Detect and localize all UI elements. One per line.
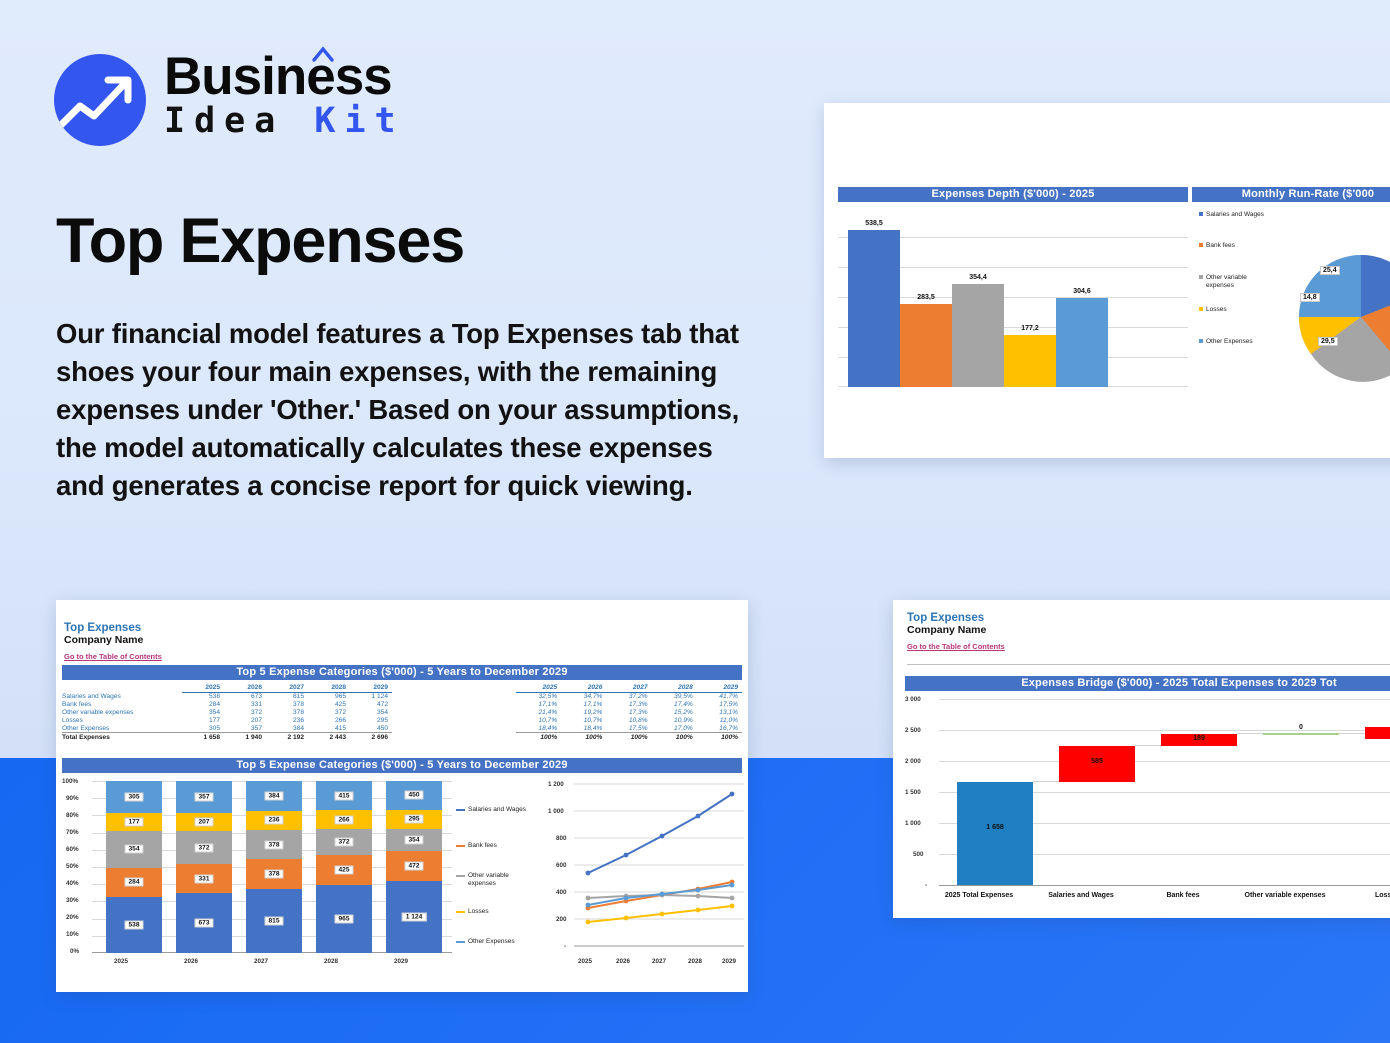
table-row: 10,7% 10,7% 10,8% 10,9% 11,0%	[516, 716, 742, 724]
xtick-salaries-and-wages: Salaries and Wages	[1041, 892, 1121, 899]
pct-col-2027: 2027	[606, 684, 651, 693]
legend-item-salaries-and-wages: Salaries and Wages	[1206, 211, 1264, 218]
xtick-other-variable-expenses: Other variable expenses	[1235, 892, 1335, 899]
bar-losses	[1004, 335, 1056, 387]
chart-title-expenses-bridge: Expenses Bridge ($'000) - 2025 Total Exp…	[905, 676, 1390, 691]
table-row: 18,4% 18,4% 17,5% 17,0% 16,7%	[516, 724, 742, 732]
chart-expenses-depth: 538,5 283,5 354,4 177,2 304,6	[838, 207, 1188, 387]
legend-item-other-variable-expenses: Other variable expenses	[1206, 274, 1247, 289]
ytick-400: 400	[556, 889, 567, 896]
ytick-1500: 1 500	[905, 789, 921, 796]
xtick-2027: 2027	[652, 958, 666, 965]
xtick-2029: 2029	[722, 958, 736, 965]
brand-idea-text: Idea	[164, 101, 284, 141]
pie-label-other-expenses: 25,4	[1320, 266, 1340, 275]
chart-expenses-bridge-waterfall: 3 000 2 500 2 000 1 500 1 000 500 - 1 65…	[905, 696, 1390, 906]
col-2029: 2029	[350, 684, 392, 693]
waterfall-bar-2025-total-expenses: 1 658	[957, 782, 1033, 885]
sheet-header-br: Top Expenses Company Name Go to the Tabl…	[907, 612, 1005, 654]
xtick-2025: 2025	[114, 958, 128, 965]
bar-other-expenses	[1056, 298, 1108, 387]
bar-label-other-variable-expenses: 354,4	[952, 274, 1004, 281]
table-row: 32,5% 34,7% 37,2% 39,5% 41,7%	[516, 693, 742, 701]
trending-up-arrow-icon	[54, 54, 146, 146]
table-row: Losses 177 207 236 266 295	[62, 716, 392, 724]
pct-col-2029: 2029	[697, 684, 742, 693]
dashboard-card-expenses-depth: Expenses Depth ($'000) - 2025 Monthly Ru…	[824, 103, 1390, 458]
stacked-column-2028: 415 266 372 425 965	[316, 781, 372, 953]
brand-logo: Business Idea Kit	[54, 48, 474, 153]
legend-item-bank-fees: Bank fees	[1206, 242, 1235, 249]
xtick-2025: 2025	[578, 958, 592, 965]
bar-label-other-expenses: 304,6	[1056, 288, 1108, 295]
pie-label-losses: 14,8	[1300, 293, 1320, 302]
sheet-title: Top Expenses	[64, 622, 162, 634]
line-chart-plot	[574, 783, 744, 953]
waterfall-bar-losses: 1	[1365, 727, 1390, 739]
sheet-company-name: Company Name	[907, 624, 1005, 636]
pct-col-2025: 2025	[516, 684, 561, 693]
pie-label-other-variable-expenses: 29,5	[1318, 337, 1338, 346]
chart-title-monthly-run-rate: Monthly Run-Rate ($'000	[1192, 187, 1390, 202]
table-of-contents-link[interactable]: Go to the Table of Contents	[64, 652, 162, 661]
brand-name-secondary: Idea Kit	[164, 104, 405, 139]
stacked-column-2027: 384 236 378 378 815	[246, 781, 302, 953]
chart-title-expenses-depth: Expenses Depth ($'000) - 2025	[838, 187, 1188, 202]
xtick-2026: 2026	[616, 958, 630, 965]
chart-top5-line: 1 200 1 000 800 600 400 200 - 2025	[548, 778, 746, 983]
col-2028: 2028	[308, 684, 350, 693]
chart-legend-expenses-depth: Salaries and Wages Bank fees Other varia…	[1206, 211, 1276, 381]
table-row: Bank fees 284 331 378 425 472	[62, 701, 392, 709]
chart-title-top5-stacked: Top 5 Expense Categories ($'000) - 5 Yea…	[62, 758, 742, 773]
pct-col-2026: 2026	[561, 684, 606, 693]
xtick-2026: 2026	[184, 958, 198, 965]
chart-legend-top5: Salaries and Wages Bank fees Other varia…	[468, 798, 534, 968]
ytick-3000: 3 000	[905, 696, 921, 703]
sheet-header-bl: Top Expenses Company Name Go to the Tabl…	[64, 622, 162, 664]
ytick-600: 600	[556, 862, 567, 869]
table-top5-expense-values: 2025 2026 2027 2028 2029 Salaries and Wa…	[62, 684, 392, 741]
brand-kit-text: Kit	[314, 101, 404, 141]
table-row: Other Expenses 305 357 384 415 450	[62, 724, 392, 732]
ytick-zero: -	[925, 882, 927, 889]
ytick-2500: 2 500	[905, 727, 921, 734]
table-row-total: 100% 100% 100% 100% 100%	[516, 732, 742, 741]
ytick-zero: -	[564, 943, 566, 950]
dashboard-card-top5-categories: Top Expenses Company Name Go to the Tabl…	[56, 600, 748, 992]
table-row: Other variable expenses 354 372 378 372 …	[62, 709, 392, 717]
col-2027: 2027	[266, 684, 308, 693]
waterfall-bar-other-variable-expenses: 0	[1263, 733, 1339, 735]
ytick-1200: 1 200	[548, 781, 564, 788]
ytick-2000: 2 000	[905, 758, 921, 765]
col-2025: 2025	[182, 684, 224, 693]
bar-salaries-and-wages	[848, 230, 900, 387]
ytick-1000: 1 000	[905, 820, 921, 827]
legend-item-salaries-and-wages: Salaries and Wages	[468, 806, 526, 813]
xtick-2028: 2028	[324, 958, 338, 965]
legend-item-other-expenses: Other Expenses	[468, 938, 515, 945]
bar-label-salaries-and-wages: 538,5	[848, 220, 900, 227]
col-2026: 2026	[224, 684, 266, 693]
waterfall-bar-bank-fees: 189	[1161, 734, 1237, 746]
chart-monthly-run-rate-pie	[1281, 237, 1390, 397]
ytick-200: 200	[556, 916, 567, 923]
legend-item-losses: Losses	[468, 908, 489, 915]
brand-name-primary: Business	[164, 50, 392, 103]
stacked-column-2026: 357 207 372 331 673	[176, 781, 232, 953]
header-divider	[907, 664, 1390, 665]
bar-label-bank-fees: 283,5	[900, 294, 952, 301]
table-row: Salaries and Wages 538 673 815 965 1 124	[62, 693, 392, 701]
xtick-2027: 2027	[254, 958, 268, 965]
table-row: 21,4% 19,2% 17,3% 15,2% 13,1%	[516, 709, 742, 717]
table-of-contents-link[interactable]: Go to the Table of Contents	[907, 642, 1005, 651]
legend-item-losses: Losses	[1206, 306, 1227, 313]
dashboard-card-expenses-bridge: Top Expenses Company Name Go to the Tabl…	[893, 600, 1390, 918]
xtick-2028: 2028	[688, 958, 702, 965]
pct-col-2028: 2028	[652, 684, 697, 693]
bar-bank-fees	[900, 304, 952, 387]
ytick-500: 500	[913, 851, 924, 858]
stacked-column-2025: 305 177 354 284 538	[106, 781, 162, 953]
table-row-total: Total Expenses 1 658 1 940 2 192 2 443 2…	[62, 732, 392, 741]
table-top5-expense-percentages: 2025 2026 2027 2028 2029 32,5% 34,7% 37,…	[516, 684, 742, 741]
chart-top5-stacked-bar: 100% 90% 80% 70% 60% 50% 40% 30% 20% 10%…	[62, 778, 462, 983]
bar-label-losses: 177,2	[1004, 325, 1056, 332]
table-title-top5-categories: Top 5 Expense Categories ($'000) - 5 Yea…	[62, 665, 742, 680]
sheet-title: Top Expenses	[907, 612, 1005, 624]
page-description: Our financial model features a Top Expen…	[56, 315, 761, 505]
waterfall-bar-salaries-and-wages: 585	[1059, 746, 1135, 782]
xtick-2025-total-expenses: 2025 Total Expenses	[939, 892, 1019, 899]
xtick-bank-fees: Bank fees	[1143, 892, 1223, 899]
xtick-2029: 2029	[394, 958, 408, 965]
bar-other-variable-expenses	[952, 284, 1004, 387]
stacked-column-2029: 450 295 354 472 1 124	[386, 781, 442, 953]
page-title: Top Expenses	[56, 205, 464, 277]
xtick-losses: Losses	[1347, 892, 1390, 899]
legend-item-other-expenses: Other Expenses	[1206, 338, 1253, 345]
legend-item-bank-fees: Bank fees	[468, 842, 497, 849]
legend-item-other-variable-expenses: Other variable expenses	[468, 872, 509, 887]
brand-caret-icon	[312, 46, 334, 62]
sheet-company-name: Company Name	[64, 634, 162, 646]
ytick-800: 800	[556, 835, 567, 842]
ytick-1000: 1 000	[548, 808, 564, 815]
table-row: 17,1% 17,1% 17,3% 17,4% 17,5%	[516, 701, 742, 709]
